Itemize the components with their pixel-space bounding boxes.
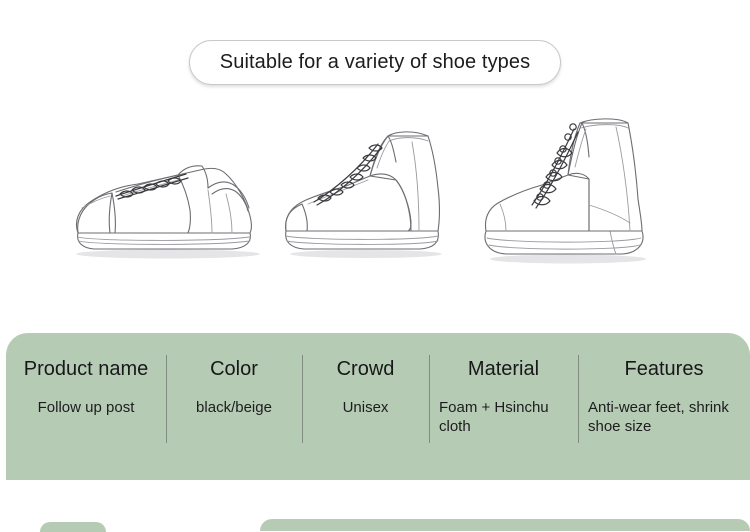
page-title: Suitable for a variety of shoe types [189,40,561,85]
spec-column-color: Color black/beige [166,359,302,480]
next-section-tab-peek [40,522,106,532]
spec-header-crowd: Crowd [310,359,421,379]
spec-header-features: Features [586,359,742,379]
spec-header-material: Material [437,359,570,379]
spec-table: Product name Follow up post Color black/… [6,333,750,480]
title-banner: Suitable for a variety of shoe types [0,40,750,85]
spec-value-material: Foam + Hsinchu cloth [437,398,570,436]
spec-value-product-name: Follow up post [14,398,158,417]
spec-value-features: Anti-wear feet, shrink shoe size [586,398,742,436]
low-top-sneaker-illustration [60,138,265,263]
spec-column-features: Features Anti-wear feet, shrink shoe siz… [578,359,750,480]
spec-header-color: Color [174,359,294,379]
spec-header-product-name: Product name [14,359,158,379]
lace-up-boot-illustration [476,109,654,269]
spec-column-product-name: Product name Follow up post [6,359,166,480]
next-section-panel-peek [260,519,750,531]
high-top-sneaker-illustration [278,118,450,263]
spec-panel: Product name Follow up post Color black/… [6,333,750,480]
spec-value-color: black/beige [174,398,294,417]
spec-column-crowd: Crowd Unisex [302,359,429,480]
spec-column-material: Material Foam + Hsinchu cloth [429,359,578,480]
spec-value-crowd: Unisex [310,398,421,417]
shoe-illustration-row [0,96,750,271]
